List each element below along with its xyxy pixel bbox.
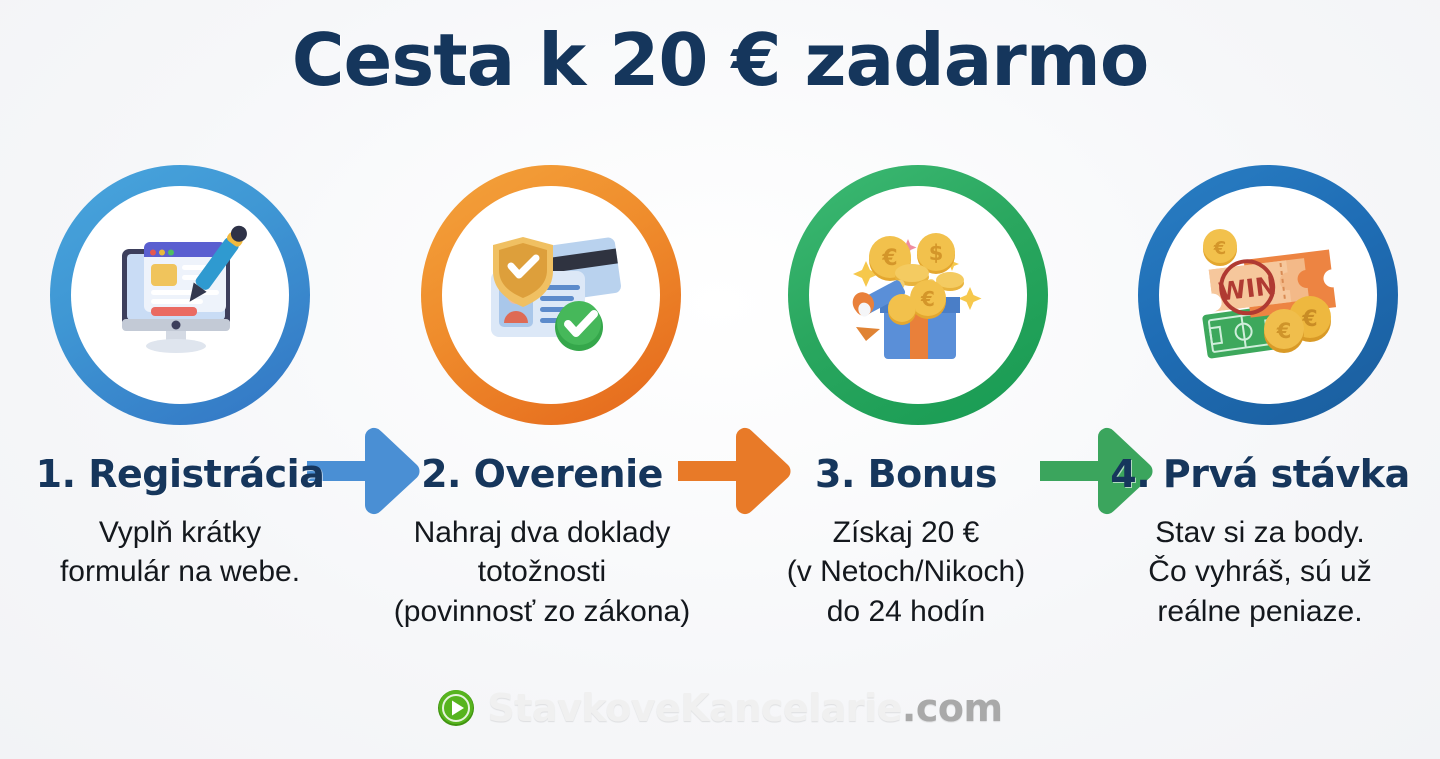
step-icon-container-bonus: € $ xyxy=(809,186,1027,404)
step-description-bonus: Získaj 20 € (v Netoch/Nikoch) do 24 hodí… xyxy=(736,513,1076,632)
watermark-tld: .com xyxy=(902,686,1003,730)
svg-text:€: € xyxy=(1276,319,1292,343)
step-description-line: (povinnosť zo zákona) xyxy=(372,592,712,632)
watermark-brand: StavkoveKancelarie xyxy=(487,686,902,730)
step-description-line: Stav si za body. xyxy=(1090,513,1430,553)
steps-row: € $ xyxy=(0,165,1440,425)
step-description-line: do 24 hodín xyxy=(736,592,1076,632)
watermark-text: StavkoveKancelarie.com xyxy=(487,686,1002,730)
step-description-line: Čo vyhráš, sú už xyxy=(1090,552,1430,592)
step-description-line: totožnosti xyxy=(372,552,712,592)
svg-text:€: € xyxy=(920,287,935,311)
step-description-line: reálne peniaze. xyxy=(1090,592,1430,632)
step-description-first-bet: Stav si za body. Čo vyhráš, sú už reálne… xyxy=(1090,513,1430,632)
captions-row: 1. Registrácia Vyplň krátky formulár na … xyxy=(0,455,1440,655)
step-icon-container-first-bet: € xyxy=(1159,186,1377,404)
step-heading-registration: 1. Registrácia xyxy=(10,455,350,495)
registration-monitor-pen-icon xyxy=(100,215,260,375)
infographic-canvas: Cesta k 20 € zadarmo xyxy=(0,0,1440,759)
step-circle-verification[interactable] xyxy=(421,165,681,425)
step-circle-bonus[interactable]: € $ xyxy=(788,165,1048,425)
step-description-line: formulár na webe. xyxy=(10,552,350,592)
bonus-giftbox-coins-icon: € $ xyxy=(838,215,998,375)
step-heading-bonus: 3. Bonus xyxy=(736,455,1076,495)
step-caption-bonus: 3. Bonus Získaj 20 € (v Netoch/Nikoch) d… xyxy=(736,455,1076,632)
page-title: Cesta k 20 € zadarmo xyxy=(0,18,1440,102)
step-description-registration: Vyplň krátky formulár na webe. xyxy=(10,513,350,592)
step-caption-registration: 1. Registrácia Vyplň krátky formulár na … xyxy=(10,455,350,592)
site-watermark: StavkoveKancelarie.com xyxy=(0,686,1440,730)
first-bet-win-ticket-coins-icon: € xyxy=(1188,215,1348,375)
step-description-line: Získaj 20 € xyxy=(736,513,1076,553)
step-circle-registration[interactable] xyxy=(50,165,310,425)
step-heading-first-bet: 4. Prvá stávka xyxy=(1090,455,1430,495)
step-description-line: Nahraj dva doklady xyxy=(372,513,712,553)
step-caption-verification: 2. Overenie Nahraj dva doklady totožnost… xyxy=(372,455,712,632)
svg-text:€: € xyxy=(1213,238,1227,259)
svg-text:€: € xyxy=(881,246,897,271)
step-description-verification: Nahraj dva doklady totožnosti (povinnosť… xyxy=(372,513,712,632)
play-button-icon xyxy=(437,689,475,727)
step-caption-first-bet: 4. Prvá stávka Stav si za body. Čo vyhrá… xyxy=(1090,455,1430,632)
step-description-line: Vyplň krátky xyxy=(10,513,350,553)
svg-text:$: $ xyxy=(929,241,944,265)
verification-id-card-shield-check-icon xyxy=(471,215,631,375)
step-description-line: (v Netoch/Nikoch) xyxy=(736,552,1076,592)
step-icon-container-registration xyxy=(71,186,289,404)
step-icon-container-verification xyxy=(442,186,660,404)
step-circle-first-bet[interactable]: € xyxy=(1138,165,1398,425)
step-heading-verification: 2. Overenie xyxy=(372,455,712,495)
